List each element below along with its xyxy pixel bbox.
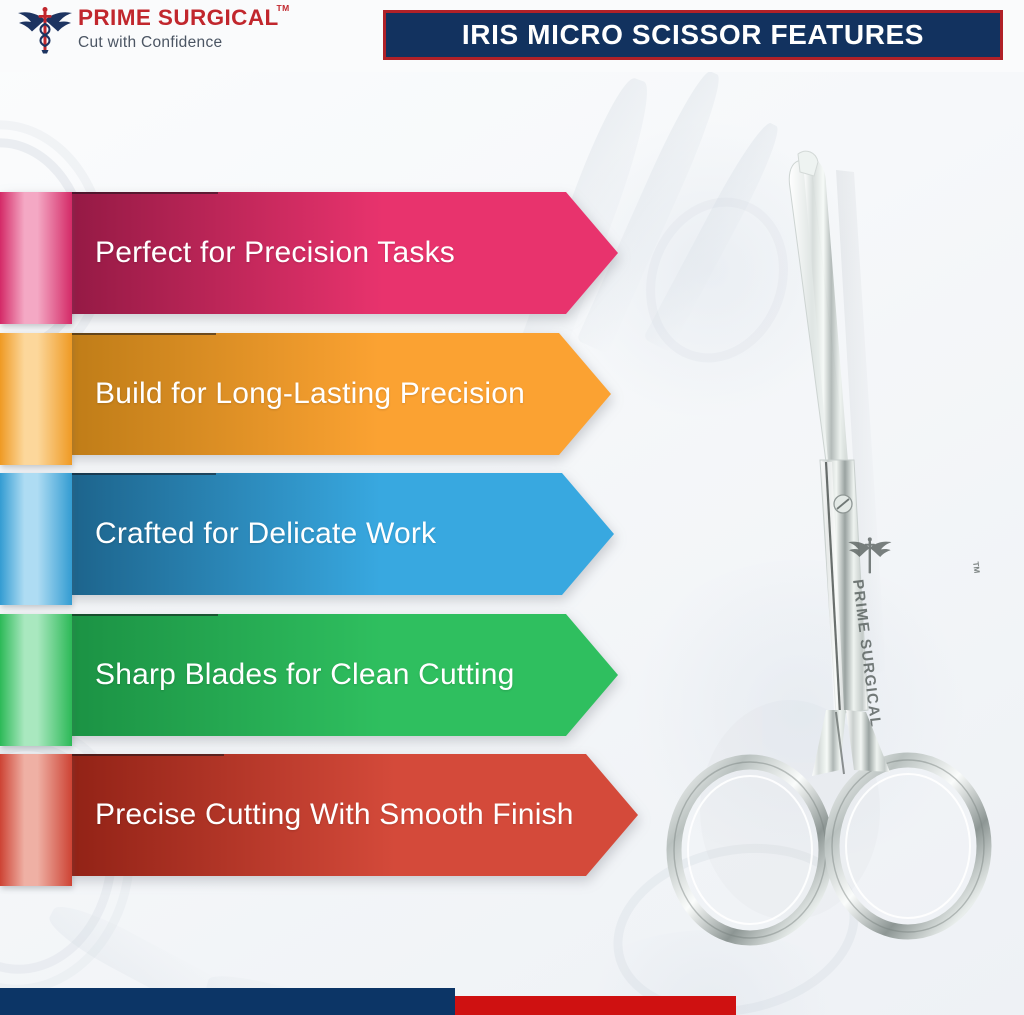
feature-banner[interactable]: Sharp Blades for Clean Cutting: [0, 614, 618, 736]
feature-list: Perfect for Precision TasksBuild for Lon…: [0, 0, 660, 1015]
iris-micro-scissor-illustration: PRIME SURGICAL TM: [640, 110, 1024, 950]
feature-banner-fold-tab: [0, 473, 72, 605]
feature-banner[interactable]: Precise Cutting With Smooth Finish: [0, 754, 638, 876]
poster-canvas: PRIME SURGICAL TM Cut with Confidence IR…: [0, 0, 1024, 1015]
feature-banner-fold-tab: [0, 333, 72, 465]
feature-banner[interactable]: Perfect for Precision Tasks: [0, 192, 618, 314]
feature-banner-fold-tab: [0, 754, 72, 886]
scissor-engraving-trademark: TM: [971, 561, 981, 574]
feature-banner[interactable]: Crafted for Delicate Work: [0, 473, 614, 595]
scissor-tip: [798, 151, 818, 176]
footer-bar-red: [455, 996, 736, 1015]
feature-label: Perfect for Precision Tasks: [95, 192, 455, 314]
feature-label: Build for Long-Lasting Precision: [95, 333, 525, 455]
feature-banner[interactable]: Build for Long-Lasting Precision: [0, 333, 611, 455]
feature-banner-fold-tab: [0, 192, 72, 324]
feature-label: Precise Cutting With Smooth Finish: [95, 754, 574, 876]
feature-label: Sharp Blades for Clean Cutting: [95, 614, 515, 736]
feature-label: Crafted for Delicate Work: [95, 473, 436, 595]
footer-bar-navy: [0, 988, 455, 1015]
pivot-screw-icon: [834, 495, 852, 513]
product-image: PRIME SURGICAL TM: [640, 110, 1024, 950]
feature-banner-fold-tab: [0, 614, 72, 746]
